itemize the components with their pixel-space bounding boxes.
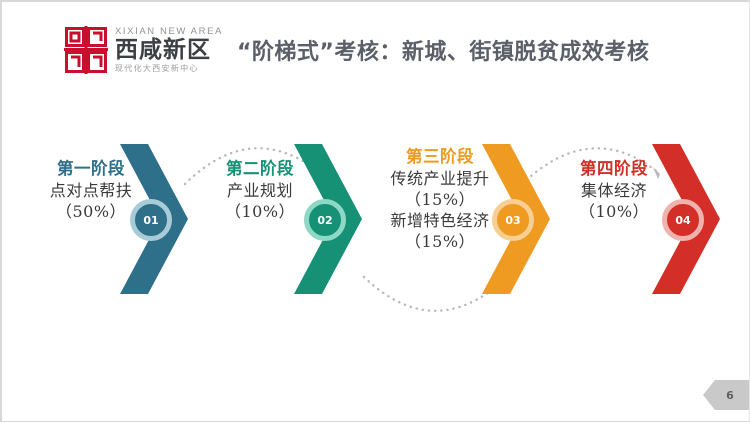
slide-header: XIXIAN NEW AREA 西咸新区 现代化大西安新中心 “阶梯式”考核：新… bbox=[64, 26, 649, 74]
logo-tagline: 现代化大西安新中心 bbox=[115, 65, 223, 73]
stage-04-line-1: 集体经济 bbox=[544, 180, 684, 201]
stage-03-line-1: 传统产业提升 bbox=[360, 168, 520, 189]
stage-02-line-1: 产业规划 bbox=[190, 180, 330, 201]
process-diagram: 第一阶段 点对点帮扶 （50%） 01 第二阶段 产业规划 （10%） 02 bbox=[2, 112, 750, 327]
stage-03-text: 第三阶段 传统产业提升 （15%） 新增特色经济 （15%） bbox=[360, 146, 520, 252]
page-title: “阶梯式”考核：新城、街镇脱贫成效考核 bbox=[237, 34, 649, 66]
stage-01-heading: 第一阶段 bbox=[16, 158, 166, 180]
page-number-badge: 6 bbox=[703, 380, 749, 410]
stage-01-number-badge: 01 bbox=[130, 199, 172, 241]
stage-01-line-1: 点对点帮扶 bbox=[16, 180, 166, 201]
stage-03-heading: 第三阶段 bbox=[360, 146, 520, 168]
logo-wordmark: XIXIAN NEW AREA 西咸新区 现代化大西安新中心 bbox=[115, 27, 223, 73]
logo-chinese-name: 西咸新区 bbox=[115, 39, 223, 62]
stage-02-heading: 第二阶段 bbox=[190, 158, 330, 180]
logo-english-name: XIXIAN NEW AREA bbox=[115, 27, 223, 37]
slide: XIXIAN NEW AREA 西咸新区 现代化大西安新中心 “阶梯式”考核：新… bbox=[0, 0, 750, 422]
stage-04-number-badge: 04 bbox=[662, 199, 704, 241]
stage-03-line-4: （15%） bbox=[360, 231, 520, 252]
stage-03-number-badge: 03 bbox=[492, 199, 534, 241]
stage-04-heading: 第四阶段 bbox=[544, 158, 684, 180]
stage-02-number-badge: 02 bbox=[304, 199, 346, 241]
page-number-label: 6 bbox=[718, 389, 734, 402]
xixian-seal-logo-icon bbox=[64, 26, 108, 74]
